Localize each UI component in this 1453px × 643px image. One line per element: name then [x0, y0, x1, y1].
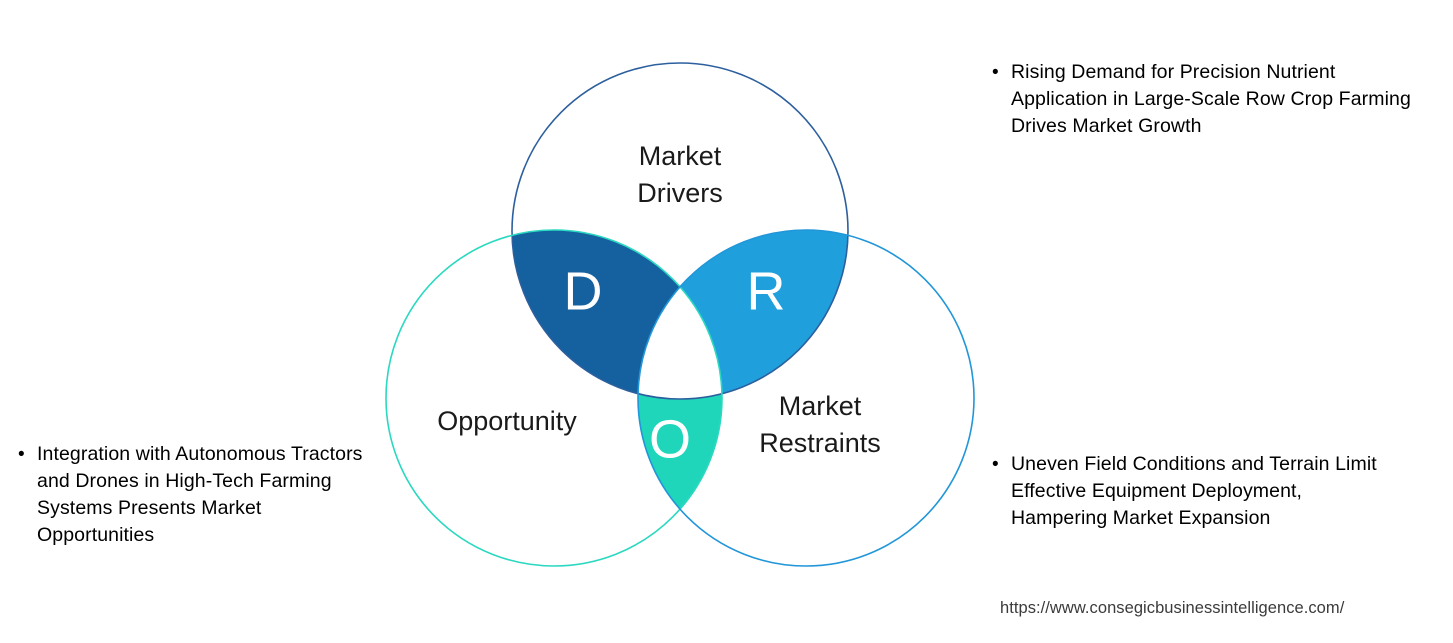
lens-letter-d: D — [564, 261, 603, 321]
source-url[interactable]: https://www.consegicbusinessintelligence… — [1000, 598, 1344, 618]
label-market-drivers-line1: Market — [639, 141, 722, 171]
label-market-restraints-line2: Restraints — [759, 428, 881, 458]
bullet-opportunity-text: Integration with Autonomous Tractors and… — [37, 441, 378, 549]
label-market-drivers-line2: Drivers — [637, 178, 723, 208]
lens-center-white — [370, 45, 980, 590]
bullet-opportunity: • Integration with Autonomous Tractors a… — [18, 441, 378, 549]
bullet-marker-icon: • — [18, 441, 28, 468]
bullet-market-driver-text: Rising Demand for Precision Nutrient App… — [1011, 59, 1422, 140]
venn-svg: D R O Market Drivers Opportunity Market … — [370, 45, 980, 590]
label-market-restraints-line1: Market — [779, 391, 862, 421]
bullet-market-driver: • Rising Demand for Precision Nutrient A… — [992, 59, 1422, 140]
bullet-market-restraint-text: Uneven Field Conditions and Terrain Limi… — [1011, 451, 1392, 532]
lens-letter-o: O — [649, 409, 691, 469]
bullet-market-restraint: • Uneven Field Conditions and Terrain Li… — [992, 451, 1392, 532]
diagram-canvas: D R O Market Drivers Opportunity Market … — [0, 0, 1453, 643]
bullet-marker-icon: • — [992, 451, 1002, 478]
bullet-marker-icon: • — [992, 59, 1002, 86]
label-opportunity: Opportunity — [437, 406, 577, 436]
venn-diagram: D R O Market Drivers Opportunity Market … — [370, 45, 980, 590]
lens-letter-r: R — [747, 261, 786, 321]
